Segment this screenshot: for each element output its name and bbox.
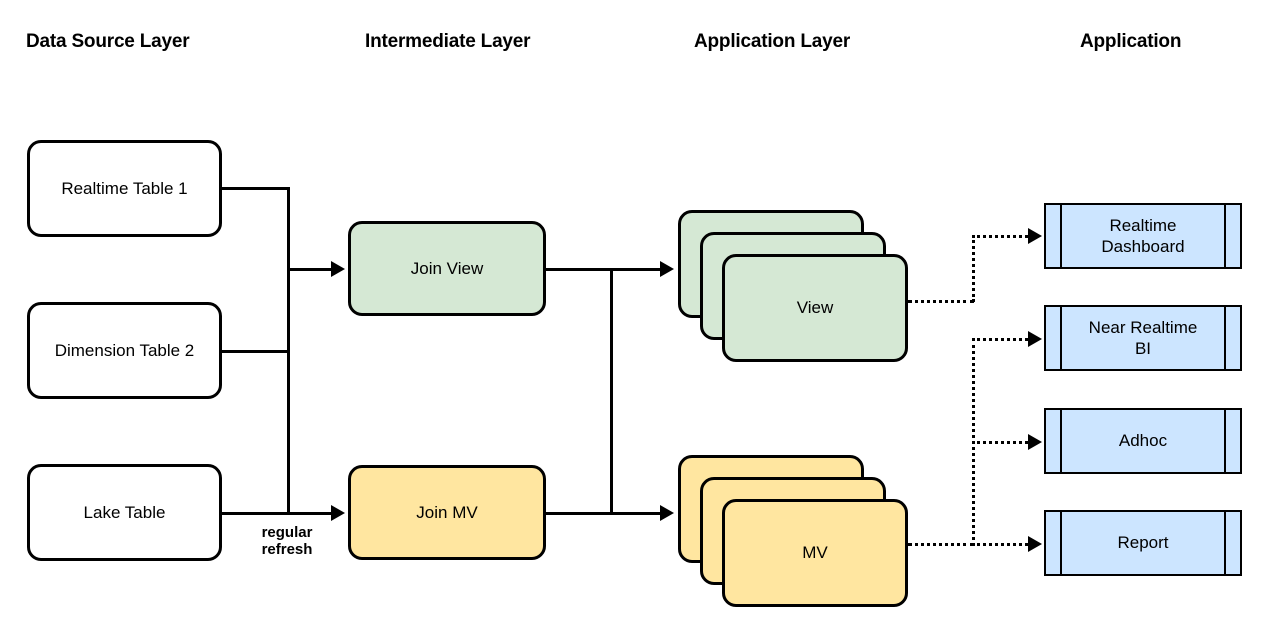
node-realtime-dashboard[interactable]: Realtime Dashboard xyxy=(1044,203,1242,269)
edge-mv-to-adhoc xyxy=(972,441,1034,444)
node-mv-label: MV xyxy=(802,543,828,563)
node-near-realtime-bi[interactable]: Near Realtime BI xyxy=(1044,305,1242,371)
edge-view-to-dashboard-h1 xyxy=(908,300,974,303)
node-adhoc[interactable]: Adhoc xyxy=(1044,408,1242,474)
edge-dimension-table-to-trunk xyxy=(222,350,289,353)
edge-trunk-to-join-mv xyxy=(287,512,332,515)
arrowhead-report xyxy=(1028,536,1042,552)
arrowhead-adhoc xyxy=(1028,434,1042,450)
node-view-label: View xyxy=(797,298,834,318)
arrowhead-join-view xyxy=(331,261,345,277)
edge-source-vertical-trunk xyxy=(287,187,290,515)
node-join-view[interactable]: Join View xyxy=(348,221,546,316)
edge-mv-to-report xyxy=(972,543,1034,546)
arrowhead-mv-stack xyxy=(660,505,674,521)
edge-view-to-dashboard-v xyxy=(972,235,975,302)
diagram-canvas: Data Source Layer Intermediate Layer App… xyxy=(0,0,1280,630)
node-realtime-dashboard-line2: Dashboard xyxy=(1101,237,1184,256)
node-view-stack[interactable]: View xyxy=(678,210,908,350)
edge-label-regular-refresh-line2: refresh xyxy=(262,541,313,558)
column-header-application-layer: Application Layer xyxy=(694,31,850,53)
mv-stack-sheet-front: MV xyxy=(722,499,908,607)
node-near-realtime-bi-label: Near Realtime BI xyxy=(1069,317,1218,360)
column-header-application: Application xyxy=(1080,31,1181,53)
node-join-mv[interactable]: Join MV xyxy=(348,465,546,560)
edge-mv-to-bi xyxy=(972,338,1034,341)
column-header-data-source-layer: Data Source Layer xyxy=(26,31,189,53)
arrowhead-view-stack xyxy=(660,261,674,277)
edge-realtime-table-to-trunk xyxy=(222,187,289,190)
arrowhead-join-mv xyxy=(331,505,345,521)
node-report-label: Report xyxy=(1097,532,1188,553)
edge-join-mv-to-mv xyxy=(546,512,661,515)
column-header-intermediate-layer: Intermediate Layer xyxy=(365,31,530,53)
node-realtime-dashboard-line1: Realtime xyxy=(1109,216,1176,235)
edge-view-to-dashboard-h2 xyxy=(972,235,1034,238)
edge-trunk-to-join-view xyxy=(287,268,332,271)
node-mv-stack[interactable]: MV xyxy=(678,455,908,595)
node-join-view-label: Join View xyxy=(405,258,489,279)
view-stack-sheet-front: View xyxy=(722,254,908,362)
node-report[interactable]: Report xyxy=(1044,510,1242,576)
node-dimension-table-2[interactable]: Dimension Table 2 xyxy=(27,302,222,399)
node-realtime-table-1-label: Realtime Table 1 xyxy=(55,178,193,199)
arrowhead-near-realtime-bi xyxy=(1028,331,1042,347)
node-near-realtime-bi-line2: BI xyxy=(1135,339,1151,358)
node-near-realtime-bi-line1: Near Realtime xyxy=(1089,318,1198,337)
node-realtime-table-1[interactable]: Realtime Table 1 xyxy=(27,140,222,237)
node-realtime-dashboard-label: Realtime Dashboard xyxy=(1081,215,1204,258)
edge-join-view-to-view xyxy=(546,268,661,271)
node-dimension-table-2-label: Dimension Table 2 xyxy=(49,340,201,361)
node-lake-table-label: Lake Table xyxy=(78,502,172,523)
node-adhoc-label: Adhoc xyxy=(1099,430,1187,451)
arrowhead-realtime-dashboard xyxy=(1028,228,1042,244)
node-join-mv-label: Join MV xyxy=(410,502,483,523)
edge-label-regular-refresh-line1: regular xyxy=(262,524,313,541)
node-lake-table[interactable]: Lake Table xyxy=(27,464,222,561)
edge-lake-table-to-trunk xyxy=(222,512,289,515)
edge-intermediate-cross-link xyxy=(610,268,613,515)
edge-label-regular-refresh: regular refresh xyxy=(243,524,331,559)
edge-mv-to-apps-h1 xyxy=(908,543,974,546)
